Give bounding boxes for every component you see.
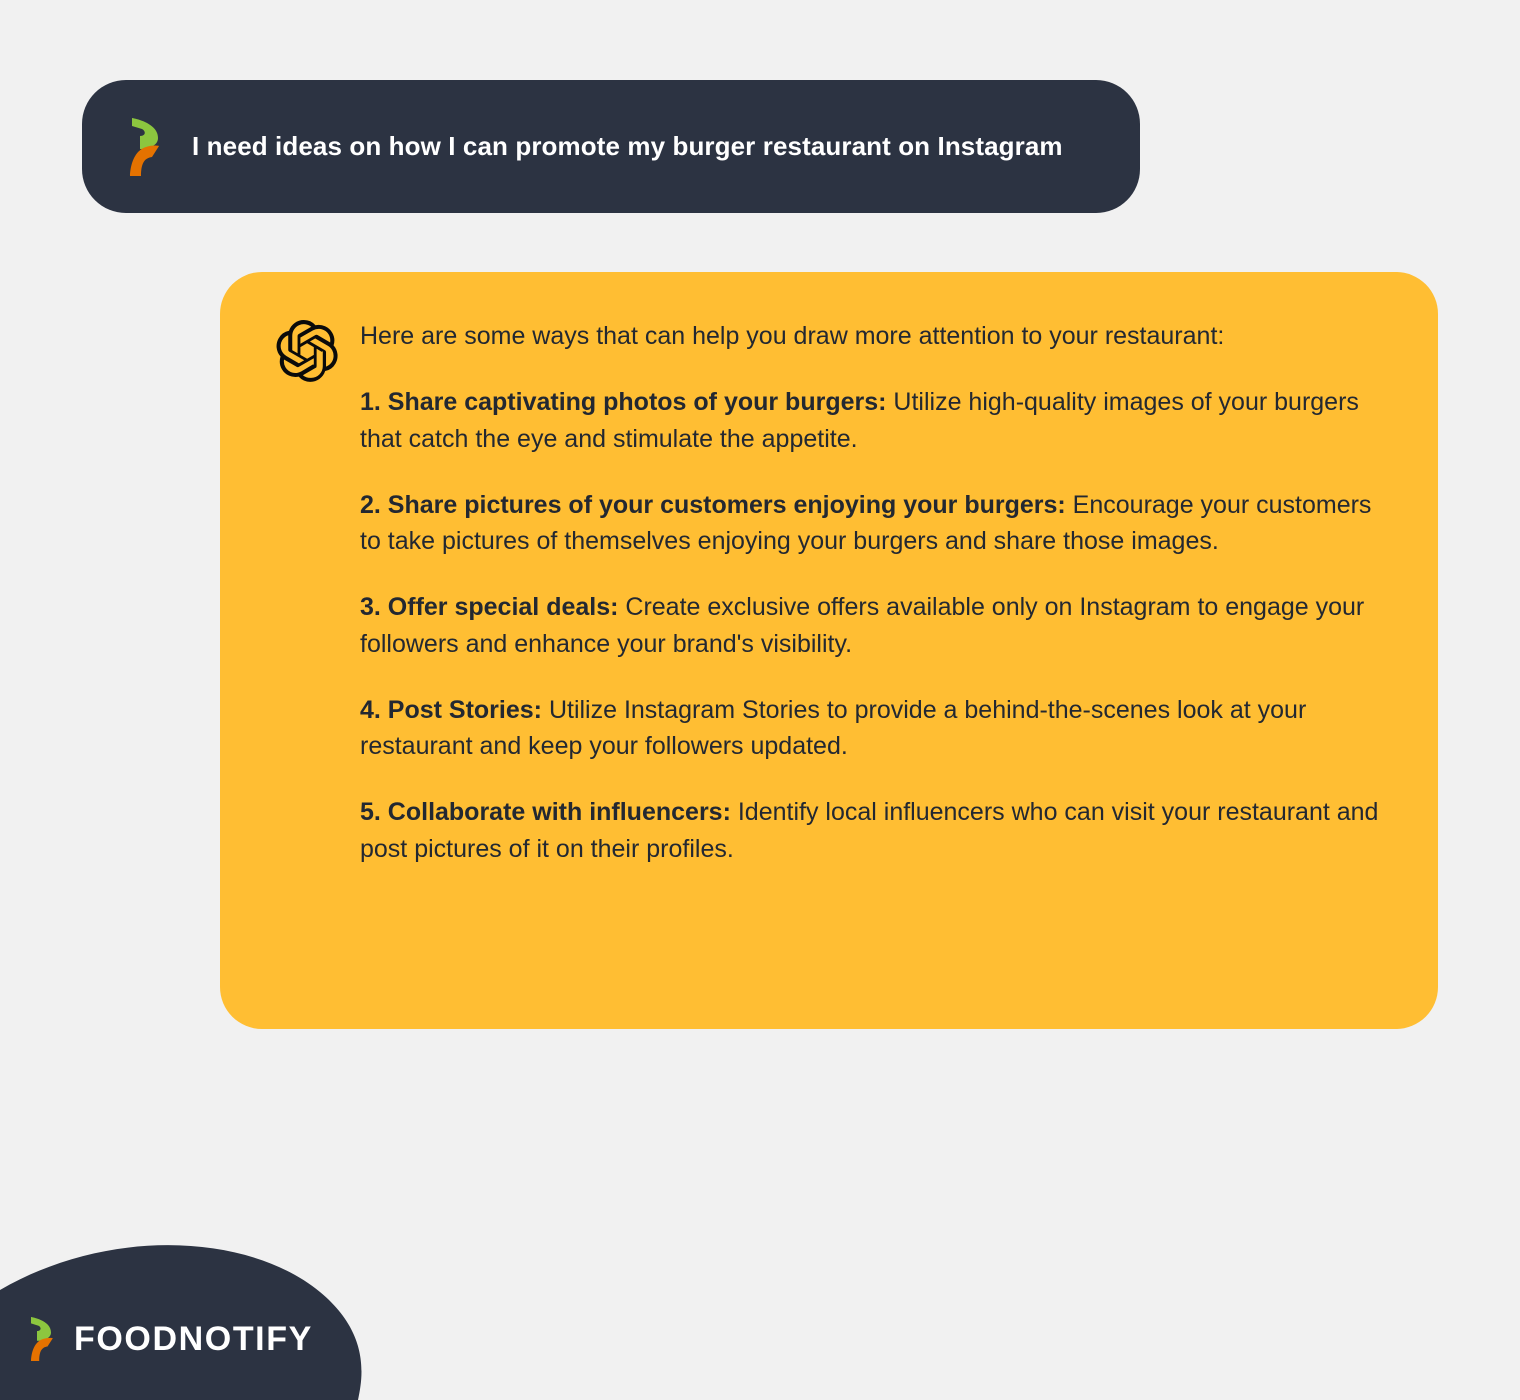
answer-item-4: 4. Post Stories: Utilize Instagram Stori…: [360, 692, 1390, 765]
answer-item-2: 2. Share pictures of your customers enjo…: [360, 487, 1390, 560]
user-prompt-bubble: I need ideas on how I can promote my bur…: [82, 80, 1140, 213]
footer-brand-name: FOODNOTIFY: [74, 1320, 313, 1359]
answer-item-1-heading: 1. Share captivating photos of your burg…: [360, 388, 886, 416]
assistant-avatar: [276, 316, 338, 989]
answer-item-5: 5. Collaborate with influencers: Identif…: [360, 794, 1390, 867]
user-prompt-text: I need ideas on how I can promote my bur…: [192, 129, 1063, 164]
answer-item-4-heading: 4. Post Stories:: [360, 696, 542, 724]
answer-item-3-heading: 3. Offer special deals:: [360, 593, 618, 621]
foodnotify-leaf-icon: [126, 116, 166, 178]
answer-item-1: 1. Share captivating photos of your burg…: [360, 384, 1390, 457]
answer-lead: Here are some ways that can help you dra…: [360, 318, 1390, 354]
answer-item-5-heading: 5. Collaborate with influencers:: [360, 798, 731, 826]
foodnotify-leaf-icon: [28, 1316, 58, 1362]
answer-item-3: 3. Offer special deals: Create exclusive…: [360, 589, 1390, 662]
answer-item-2-heading: 2. Share pictures of your customers enjo…: [360, 491, 1066, 519]
openai-logo-icon: [276, 320, 338, 382]
footer-brand: FOODNOTIFY: [28, 1316, 313, 1362]
assistant-answer-card: Here are some ways that can help you dra…: [220, 272, 1438, 1029]
assistant-answer-body: Here are some ways that can help you dra…: [338, 316, 1390, 989]
infographic-canvas: I need ideas on how I can promote my bur…: [0, 0, 1520, 1400]
